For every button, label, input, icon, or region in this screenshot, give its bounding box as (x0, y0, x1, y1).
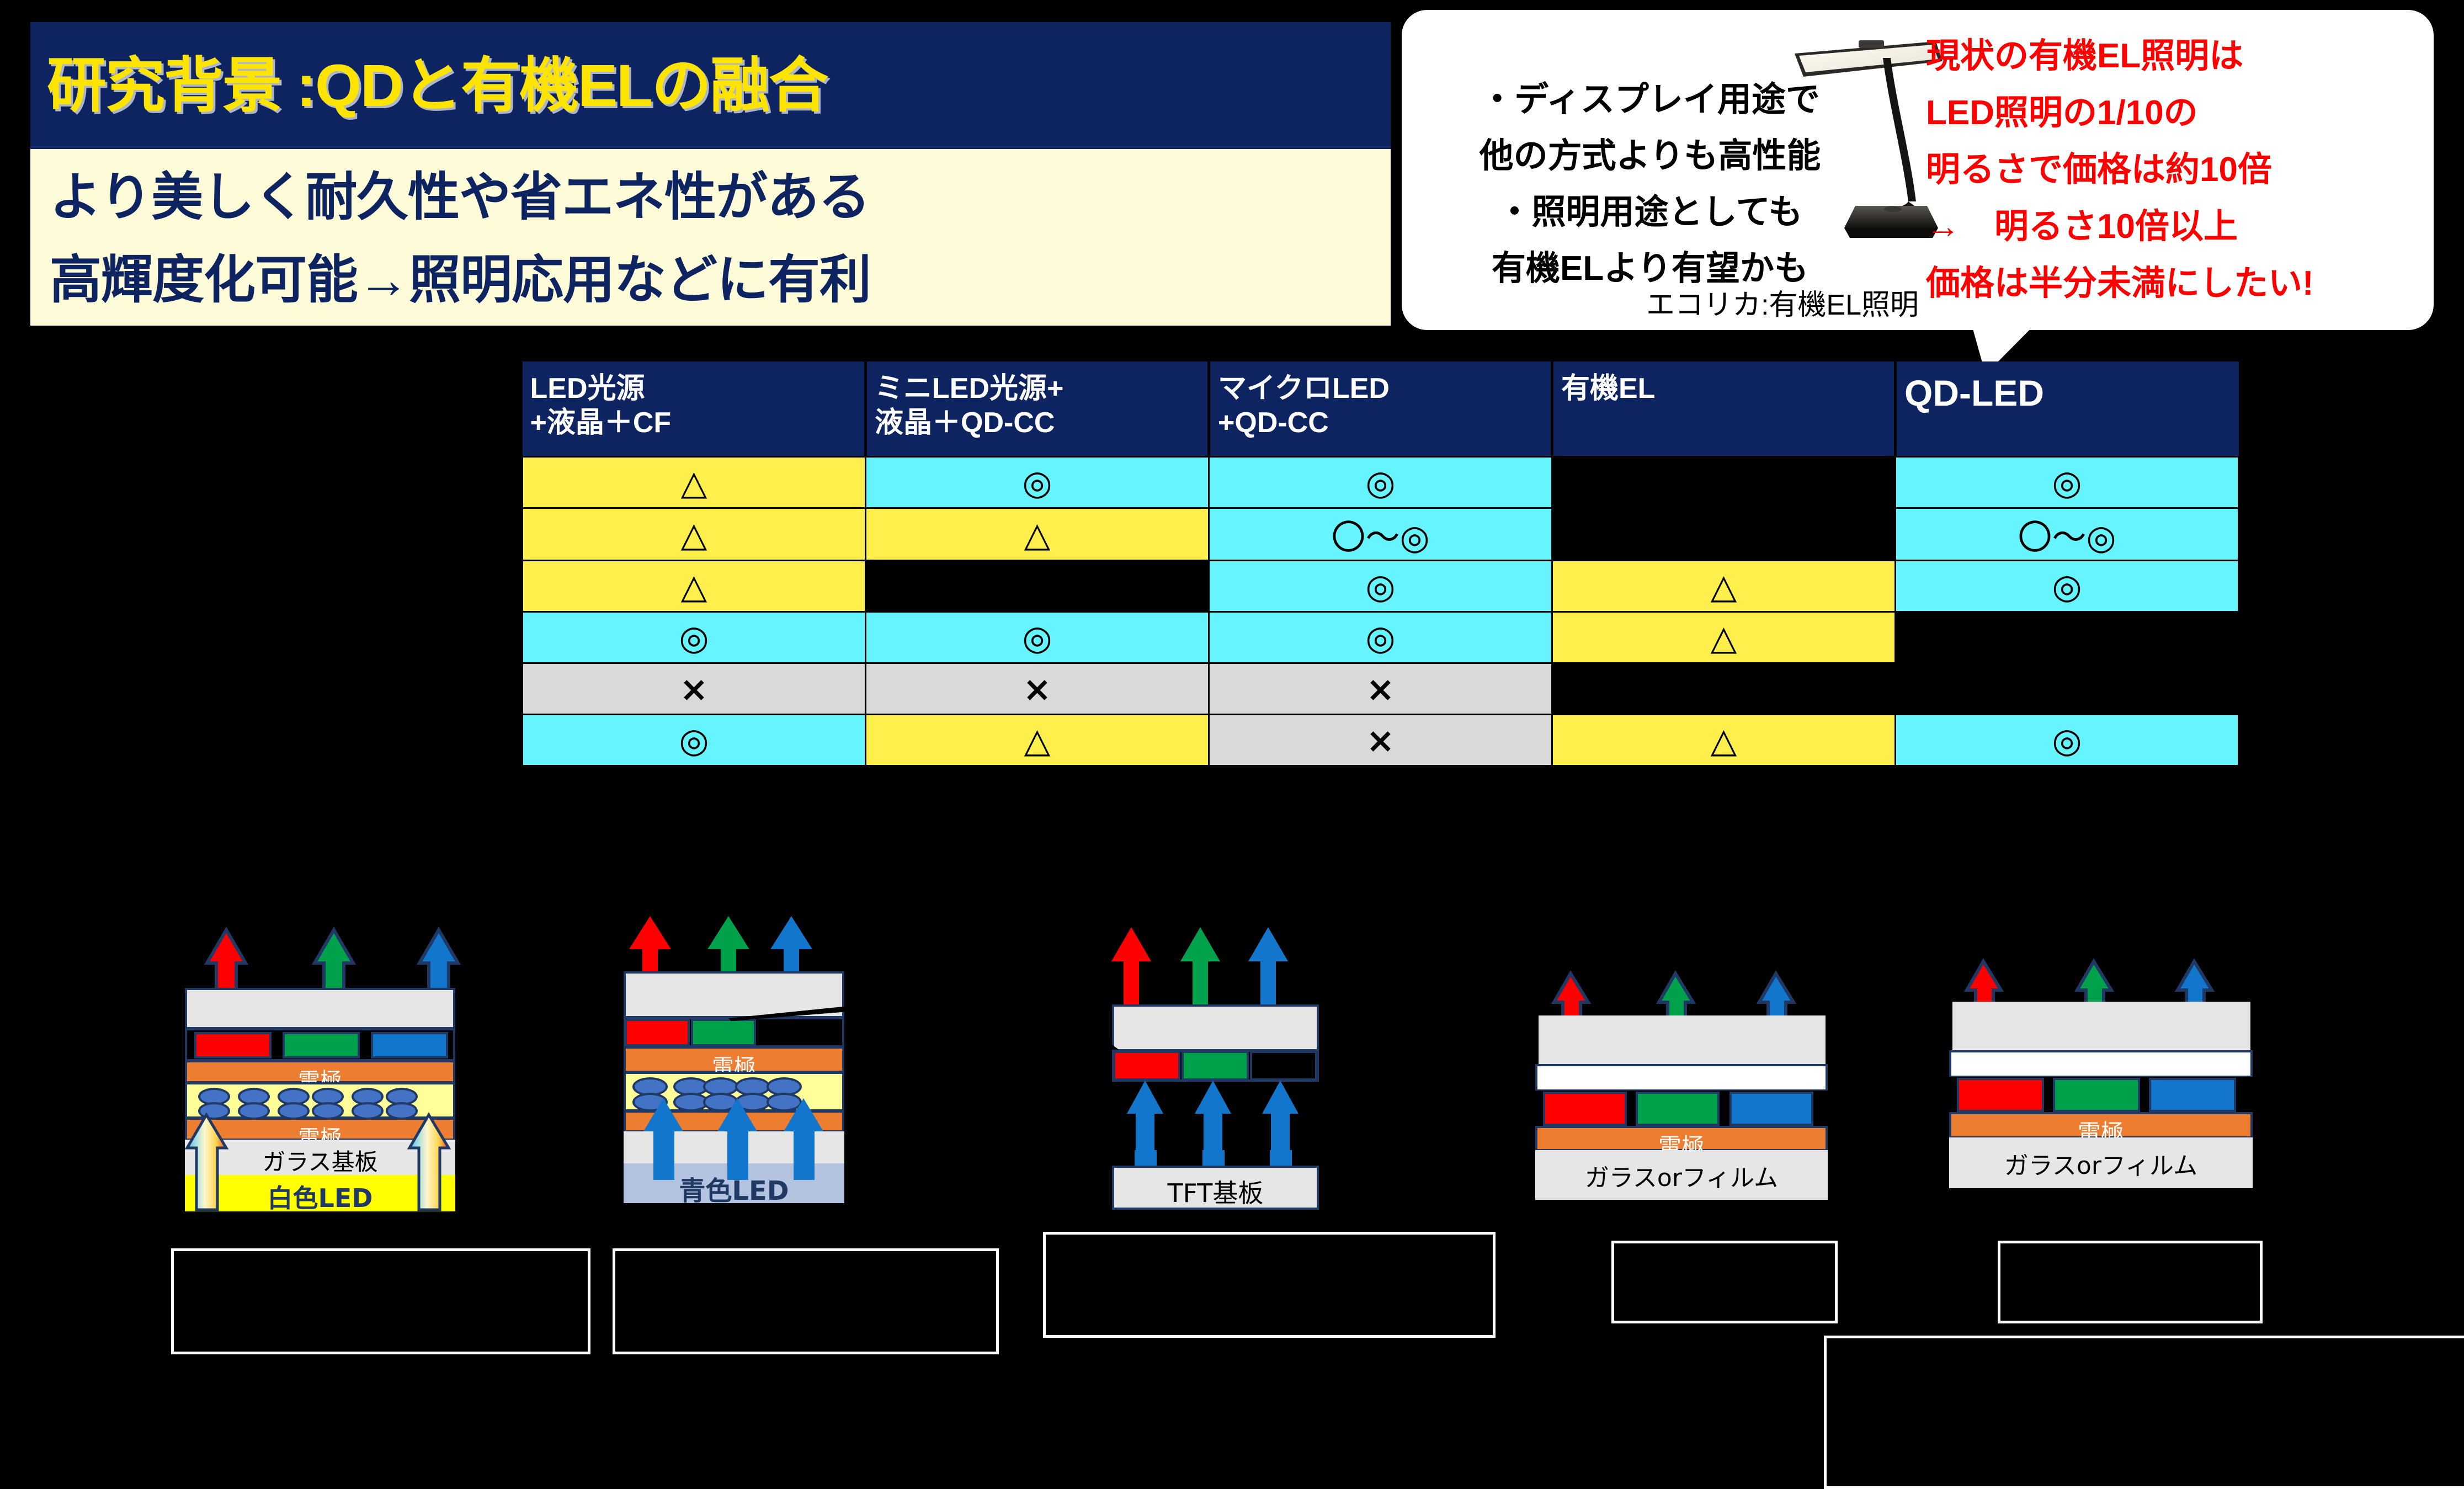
layer-cathode (1949, 1050, 2253, 1078)
table-cell (1552, 663, 1896, 715)
layer-encapsulation (1952, 1002, 2250, 1051)
subtitle-line-1: より美しく耐久性や省エネ性がある (50, 156, 1374, 238)
table-cell: △ (866, 715, 1209, 766)
table-header-row: LED光源 +液晶＋CF ミニLED光源+ 液晶＋QD-CC マイクロLED +… (523, 361, 2239, 457)
subtitle-line-2: 高輝度化可能→照明応用などに有利 (50, 238, 1374, 321)
table-cell: △ (866, 508, 1209, 561)
table-cell: × (1209, 663, 1552, 715)
callout-right-line-3: 明るさで価格は約10倍 (1926, 141, 2423, 198)
layer-substrate (1949, 1137, 2253, 1188)
qd-emitter-red (1957, 1078, 2044, 1112)
col-header-line2: 液晶＋QD-CC (875, 406, 1200, 440)
table-cell: △ (523, 561, 866, 612)
table-cell: △ (1552, 612, 1896, 663)
col-header-line1: 有機EL (1561, 371, 1886, 406)
caption-box-3 (1043, 1232, 1496, 1338)
table-cell (1552, 457, 1896, 508)
table-row: △◎◎◎ (523, 457, 2239, 508)
table-cell (1896, 663, 2239, 715)
callout-left-line-3: ・照明用途としても (1424, 184, 1876, 241)
layer-substrate (1535, 1150, 1828, 1200)
col-header-line2: +液晶＋CF (530, 406, 857, 440)
col-header-line1: LED光源 (530, 371, 857, 406)
table-cell: ◎ (1209, 457, 1552, 508)
table-cell: ◎ (1209, 561, 1552, 612)
table-row: △◎△◎ (523, 561, 2239, 612)
layer-electrode (1949, 1112, 2253, 1139)
callout-image-caption: エコリカ:有機EL照明 (1578, 281, 1987, 323)
table-row: ◎△×△◎ (523, 715, 2239, 766)
table-col-header-2: ミニLED光源+ 液晶＋QD-CC (866, 361, 1209, 457)
layer-substrate (1112, 1166, 1319, 1210)
col-header-line1: マイクロLED (1218, 371, 1543, 406)
callout-right-line-4: → 明るさ10倍以上 (1926, 198, 2423, 255)
table-col-header-3: マイクロLED +QD-CC (1209, 361, 1552, 457)
callout-left-line-2: 他の方式よりも高性能 (1424, 128, 1876, 184)
callout-right-line-5: 価格は半分未満にしたい! (1926, 255, 2423, 312)
table-cell: ◎ (866, 612, 1209, 663)
col-header-line1: QD-LED (1904, 376, 2231, 410)
table-cell (1552, 508, 1896, 561)
backlight-arrows (618, 916, 949, 1247)
layer-cathode (1535, 1064, 1828, 1092)
caption-box-1 (171, 1248, 590, 1354)
table-cell: ◎ (1209, 612, 1552, 663)
subtitle-block: より美しく耐久性や省エネ性がある 高輝度化可能→照明応用などに有利 (50, 156, 1374, 321)
backlight-arrows (182, 927, 513, 1247)
diagram-led-lcd-cf: 電極 電極 ガラス基板 白色LED (182, 927, 513, 1247)
table-cell (866, 561, 1209, 612)
callout-left-text: ・ディスプレイ用途で 他の方式よりも高性能 ・照明用途としても 有機ELより有望… (1424, 72, 1876, 297)
table-row: ◎◎◎△ (523, 612, 2239, 663)
table-col-header-1: LED光源 +液晶＋CF (523, 361, 866, 457)
table-cell: △ (1552, 715, 1896, 766)
col-header-line2: +QD-CC (1218, 406, 1543, 440)
table-cell: △ (523, 457, 866, 508)
callout-right-text: 現状の有機EL照明は LED照明の1/10の 明るさで価格は約10倍 → 明るさ… (1926, 28, 2423, 312)
table-cell: ◎ (1896, 561, 2239, 612)
callout-right-line-1: 現状の有機EL照明は (1926, 28, 2423, 84)
caption-box-5 (1998, 1241, 2263, 1323)
diagram-mini-led-qdcc: 電極 青色LED (618, 916, 949, 1247)
diagram-qd-led: 電極 ガラスorフィルム (1931, 933, 2274, 1247)
table-cell: △ (1552, 561, 1896, 612)
layer-electrode (1535, 1126, 1828, 1151)
oled-emitter-green (1636, 1092, 1720, 1126)
qd-emitter-blue (2149, 1078, 2236, 1112)
table-cell: △ (523, 508, 866, 561)
diagram-oled: 電極 ガラスorフィルム (1518, 938, 1849, 1247)
table-cell (1896, 612, 2239, 663)
layer-encapsulation (1539, 1015, 1826, 1065)
comparison-table: LED光源 +液晶＋CF ミニLED光源+ 液晶＋QD-CC マイクロLED +… (521, 361, 2238, 767)
table-cell: ◎ (1896, 457, 2239, 508)
table-cell: ◎ (523, 612, 866, 663)
table-cell: 〇〜◎ (1896, 508, 2239, 561)
table-cell: ◎ (523, 715, 866, 766)
diagram-micro-led-qdcc: TFT基板 (1098, 927, 1451, 1247)
table-col-header-4: 有機EL (1552, 361, 1896, 457)
callout-right-line-2: LED照明の1/10の (1926, 84, 2423, 141)
table-row: ××× (523, 663, 2239, 715)
table-cell: × (866, 663, 1209, 715)
caption-box-2 (613, 1248, 999, 1354)
table-row: △△〇〜◎〇〜◎ (523, 508, 2239, 561)
callout-left-line-1: ・ディスプレイ用途で (1424, 72, 1876, 128)
oled-emitter-red (1543, 1092, 1627, 1126)
table-cell: ◎ (1896, 715, 2239, 766)
table-cell: 〇〜◎ (1209, 508, 1552, 561)
page-title: 研究背景 :QDと有機ELの融合 (47, 30, 1371, 141)
oled-emitter-blue (1729, 1092, 1813, 1126)
table-cell: ◎ (866, 457, 1209, 508)
col-header-line1: ミニLED光源+ (875, 371, 1200, 406)
caption-box-4 (1611, 1241, 1838, 1323)
table-cell: × (1209, 715, 1552, 766)
table-col-header-5: QD-LED (1896, 361, 2239, 457)
table-cell: × (523, 663, 866, 715)
qd-emitter-green (2053, 1078, 2140, 1112)
caption-box-6 (1824, 1336, 2464, 1489)
